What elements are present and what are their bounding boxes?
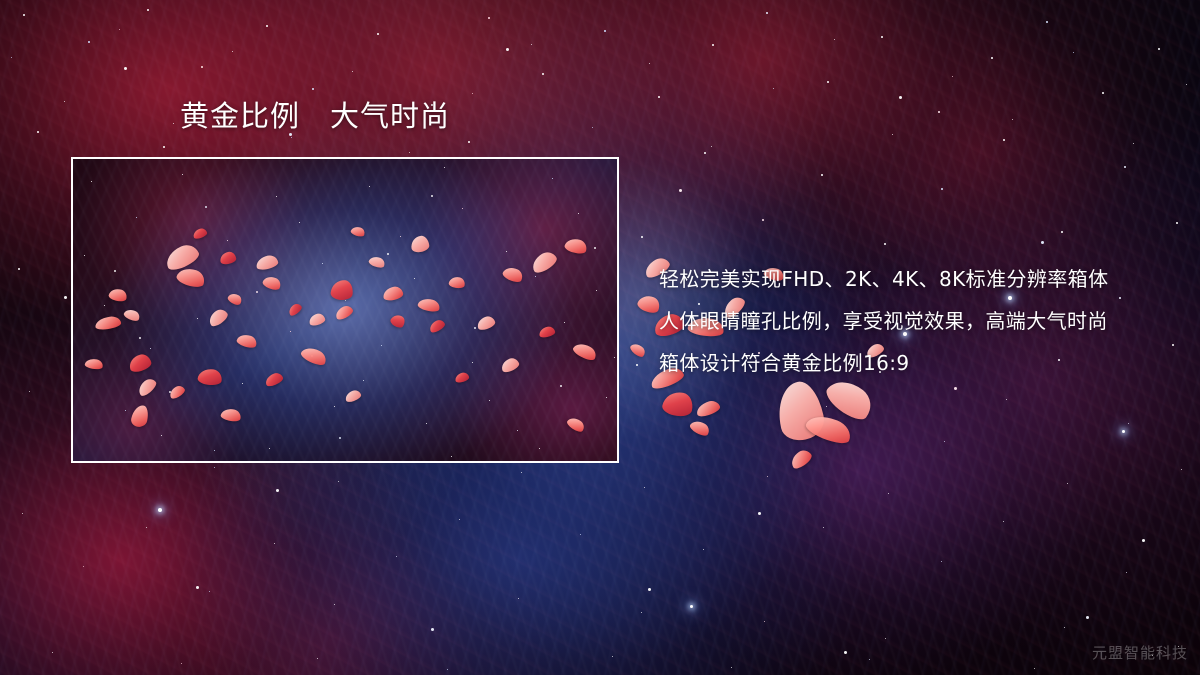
slide-title: 黄金比例 大气时尚 [180,102,450,131]
body-line-3: 箱体设计符合黄金比例16:9 [659,342,1108,384]
bright-star [690,605,693,608]
preview-frame[interactable] [71,157,619,463]
starfield-layer-bright [0,0,3,3]
slide-body-text: 轻松完美实现FHD、2K、4K、8K标准分辨率箱体 人体眼睛瞳孔比例，享受视觉效… [659,258,1108,384]
watermark-company-name: 元盟智能科技 [1092,642,1188,663]
body-line-2: 人体眼睛瞳孔比例，享受视觉效果，高端大气时尚 [659,300,1108,342]
bright-star [1122,430,1125,433]
presentation-slide: 黄金比例 大气时尚 轻松完美实现FHD、2K、4K、8K标准分辨率箱体 人体眼睛… [0,0,1200,675]
body-line-1: 轻松完美实现FHD、2K、4K、8K标准分辨率箱体 [659,258,1108,300]
bright-star [158,508,162,512]
preview-starfield-bright [73,159,75,161]
